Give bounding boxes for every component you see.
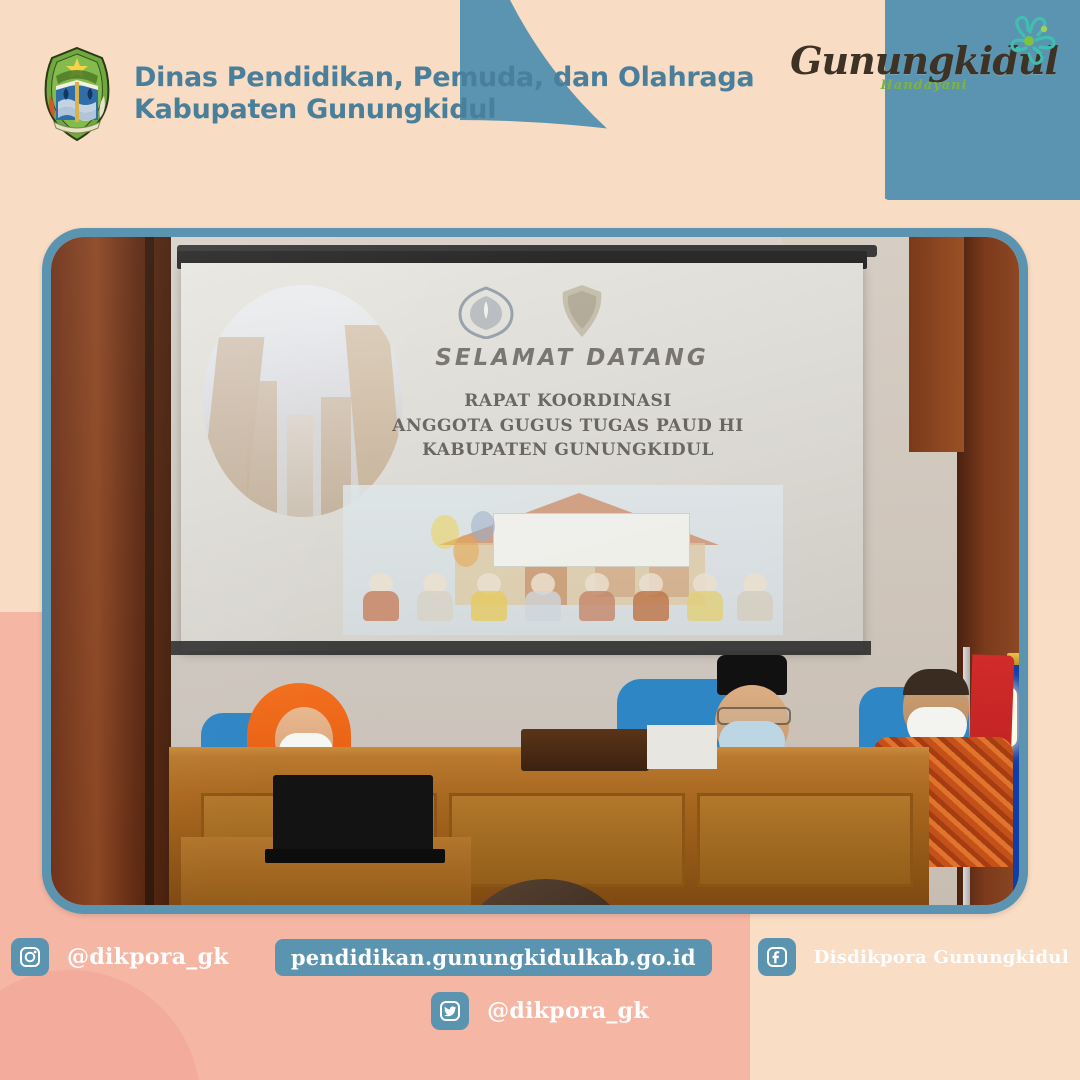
laptop [273, 775, 433, 855]
table-panel [697, 793, 913, 887]
slide-logos [457, 277, 637, 339]
laptop-base [265, 849, 445, 863]
slide-school-illustration [343, 485, 783, 635]
illustration-child [361, 573, 401, 621]
illustration-balloon [471, 511, 495, 541]
website-url[interactable]: pendidikan.gunungkidulkab.go.id [275, 939, 712, 976]
event-photo: SELAMAT DATANG RAPAT KOORDINASI ANGGOTA … [51, 237, 1019, 905]
slide-subject-lines: RAPAT KOORDINASI ANGGOTA GUGUS TUGAS PAU… [333, 389, 803, 463]
room-door-right [909, 237, 964, 452]
slide-welcome-text: SELAMAT DATANG [357, 345, 787, 371]
slide-line-1: RAPAT KOORDINASI [333, 389, 803, 414]
tut-wuri-handayani-logo-icon [457, 285, 515, 339]
illustration-child [735, 573, 775, 621]
illustration-child [415, 573, 455, 621]
gunungkidul-brand: Gunungkidul Handayani [790, 42, 1058, 93]
illustration-child [523, 573, 563, 621]
wood-panel-seam [145, 237, 154, 905]
instagram-icon[interactable] [11, 938, 49, 976]
illustration-signboard [493, 513, 690, 567]
brand-ornament-icon [1004, 16, 1062, 73]
gunungkidul-regency-crest-icon [42, 46, 112, 142]
table-podium-box [521, 729, 649, 771]
table-white-box [647, 725, 717, 769]
illustration-balloon [453, 535, 479, 567]
event-photo-frame: SELAMAT DATANG RAPAT KOORDINASI ANGGOTA … [42, 228, 1028, 914]
gunungkidul-seal-logo-icon [559, 283, 605, 339]
slide-building [247, 381, 277, 517]
facebook-icon[interactable] [758, 938, 796, 976]
footer: @dikpora_gk pendidikan.gunungkidulkab.go… [0, 938, 1080, 1030]
table-panel [449, 793, 685, 887]
instagram-handle[interactable]: @dikpora_gk [67, 944, 229, 970]
footer-row-primary: @dikpora_gk pendidikan.gunungkidulkab.go… [0, 938, 1080, 976]
slide-line-3: KABUPATEN GUNUNGKIDUL [333, 438, 803, 463]
projector-screen: SELAMAT DATANG RAPAT KOORDINASI ANGGOTA … [181, 263, 863, 651]
header-title: Dinas Pendidikan, Pemuda, dan Olahraga K… [134, 62, 754, 126]
footer-row-secondary: @dikpora_gk [0, 992, 1080, 1030]
header: Dinas Pendidikan, Pemuda, dan Olahraga K… [42, 46, 754, 142]
illustration-child [577, 573, 617, 621]
header-title-line-1: Dinas Pendidikan, Pemuda, dan Olahraga [134, 62, 754, 94]
illustration-child [685, 573, 725, 621]
slide-building [287, 415, 313, 517]
slide-line-2: ANGGOTA GUGUS TUGAS PAUD HI [333, 414, 803, 439]
poster-canvas: Dinas Pendidikan, Pemuda, dan Olahraga K… [0, 0, 1080, 1080]
header-title-line-2: Kabupaten Gunungkidul [134, 94, 754, 126]
presentation-slide: SELAMAT DATANG RAPAT KOORDINASI ANGGOTA … [181, 263, 863, 651]
illustration-child [631, 573, 671, 621]
twitter-handle[interactable]: @dikpora_gk [487, 998, 649, 1024]
twitter-icon[interactable] [431, 992, 469, 1030]
illustration-child [469, 573, 509, 621]
projector-screen-bottom-bar [171, 641, 871, 655]
facebook-page[interactable]: Disdikpora Gunungkidul [814, 947, 1069, 968]
